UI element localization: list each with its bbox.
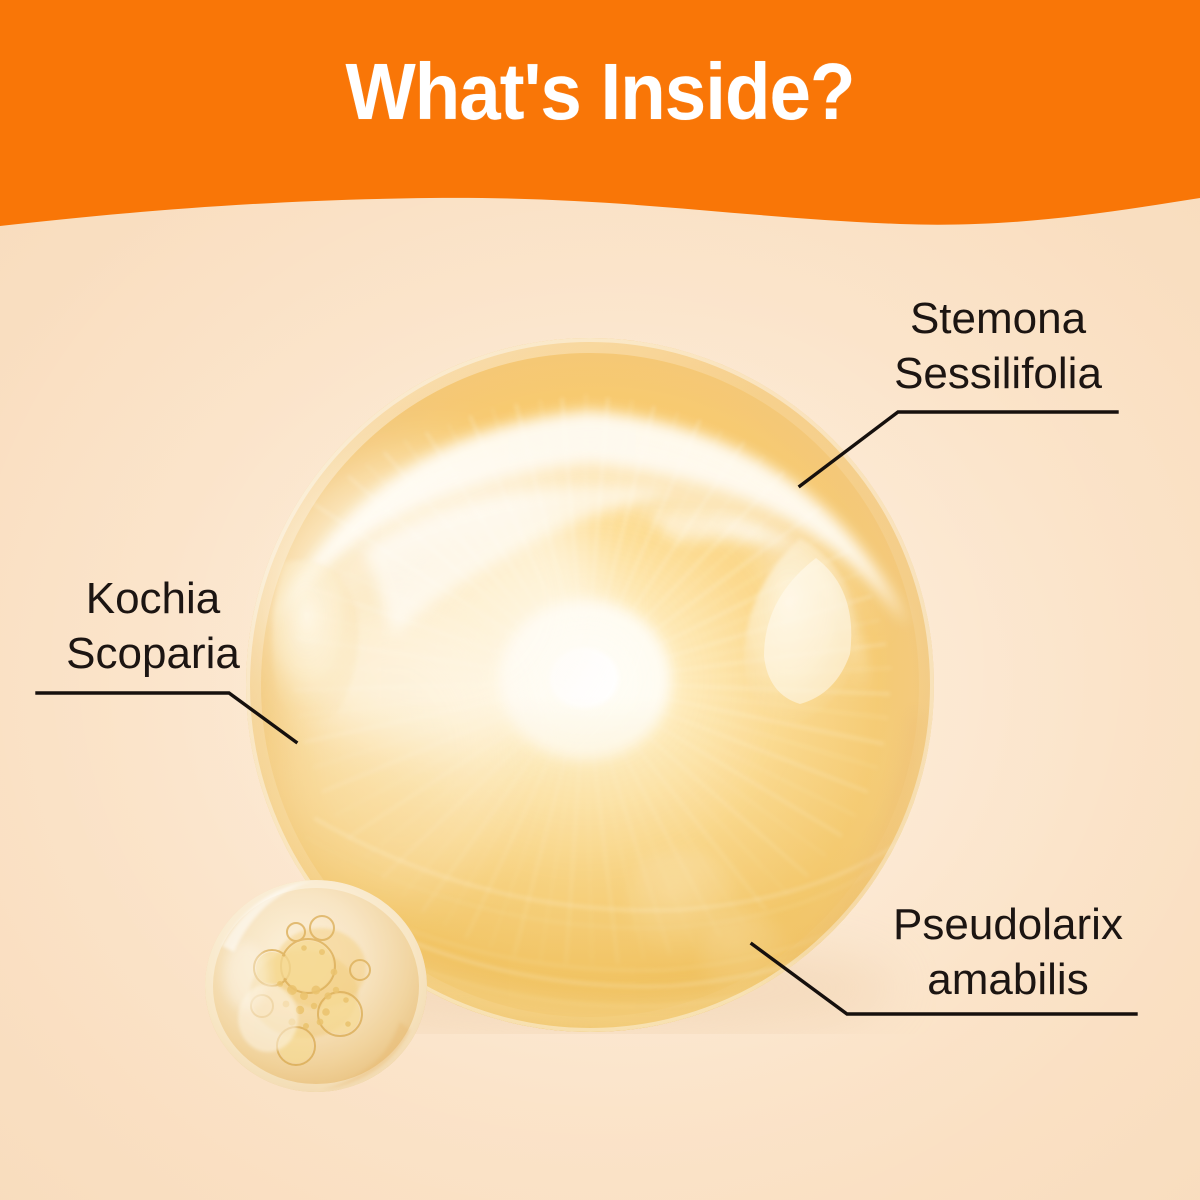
callout-label-kochia: Kochia Scoparia [22, 572, 284, 681]
callout-label-stemona: Stemona Sessilifolia [838, 292, 1158, 401]
callout-stemona-line1: Stemona [838, 292, 1158, 347]
product-ingredients-infographic: What's Inside? Stemona Sessilifolia Koch… [0, 0, 1200, 1200]
callout-kochia-line2: Scoparia [22, 627, 284, 682]
page-title: What's Inside? [42, 52, 1158, 132]
callout-kochia-line1: Kochia [22, 572, 284, 627]
callout-label-pseudolarix: Pseudolarix amabilis [848, 898, 1168, 1007]
small-droplet-graphic [200, 872, 432, 1098]
callout-stemona-line2: Sessilifolia [838, 347, 1158, 402]
callout-pseudolarix-line2: amabilis [848, 953, 1168, 1008]
callout-pseudolarix-line1: Pseudolarix [848, 898, 1168, 953]
